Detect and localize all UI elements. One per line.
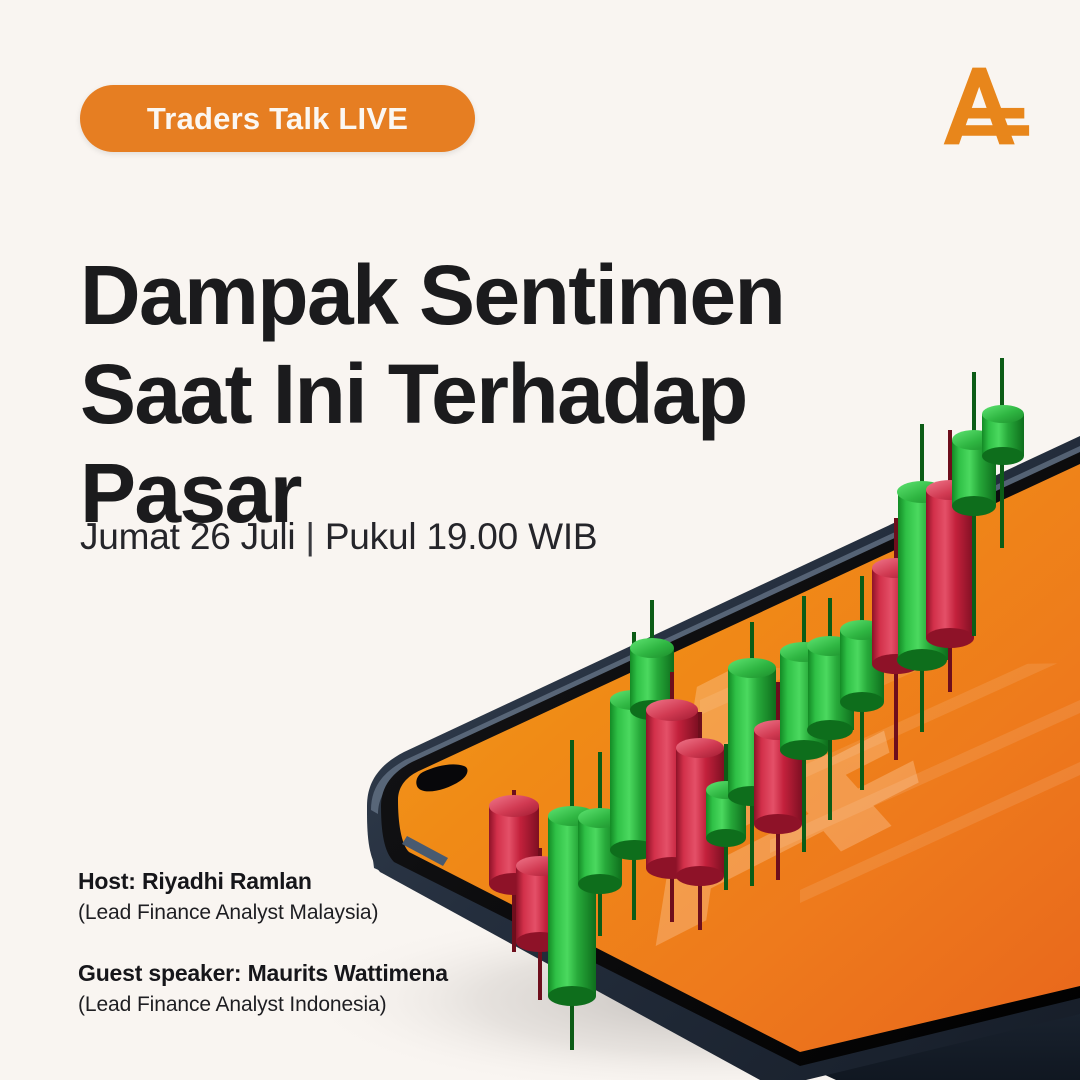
page-title: Dampak Sentimen Saat Ini Terhadap Pasar [80, 246, 800, 543]
credit-host-name: Host: Riyadhi Ramlan [78, 866, 448, 896]
schedule-date: Jumat 26 Juli [80, 516, 295, 557]
credit-host: Host: Riyadhi Ramlan (Lead Finance Analy… [78, 866, 448, 928]
credit-guest: Guest speaker: Maurits Wattimena (Lead F… [78, 958, 448, 1020]
headline-line-1: Dampak Sentimen [80, 246, 800, 345]
schedule-separator: | [295, 516, 324, 558]
poster-canvas: Traders Talk LIVE Dampak Sentimen Saat I… [0, 0, 1080, 1080]
ascend-a-logo-icon [936, 58, 1032, 154]
credits-block: Host: Riyadhi Ramlan (Lead Finance Analy… [78, 866, 448, 1020]
credit-guest-role: (Lead Finance Analyst Indonesia) [78, 990, 448, 1020]
schedule-line: Jumat 26 Juli|Pukul 19.00 WIB [80, 516, 597, 558]
credit-guest-name: Guest speaker: Maurits Wattimena [78, 958, 448, 988]
live-badge[interactable]: Traders Talk LIVE [80, 85, 475, 152]
live-badge-label: Traders Talk LIVE [147, 101, 408, 137]
headline-line-2: Saat Ini Terhadap [80, 345, 800, 444]
credit-host-role: (Lead Finance Analyst Malaysia) [78, 898, 448, 928]
schedule-time: Pukul 19.00 WIB [325, 516, 598, 557]
